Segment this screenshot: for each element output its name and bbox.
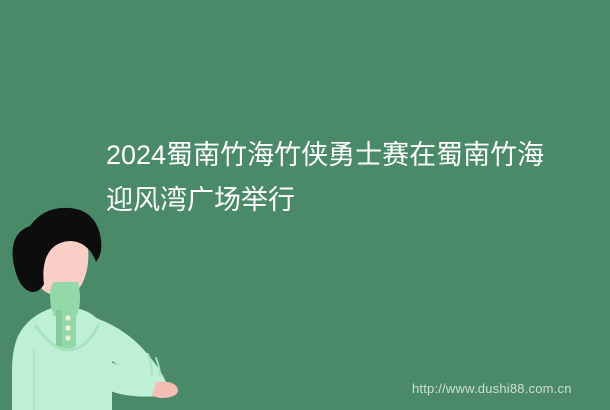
person-illustration-svg bbox=[0, 200, 200, 410]
button-icon bbox=[65, 325, 70, 330]
placket-shade bbox=[56, 310, 62, 348]
source-url-watermark: http://www.dushi88.com.cn bbox=[412, 381, 572, 397]
cover-image: 2024蜀南竹海竹侠勇士赛在蜀南竹海迎风湾广场举行 http://www.dus… bbox=[0, 0, 610, 410]
button-icon bbox=[65, 335, 70, 340]
page-title: 2024蜀南竹海竹侠勇士赛在蜀南竹海迎风湾广场举行 bbox=[106, 133, 566, 223]
button-icon bbox=[65, 315, 70, 320]
person-illustration bbox=[0, 200, 200, 410]
hand-shape bbox=[152, 382, 178, 398]
